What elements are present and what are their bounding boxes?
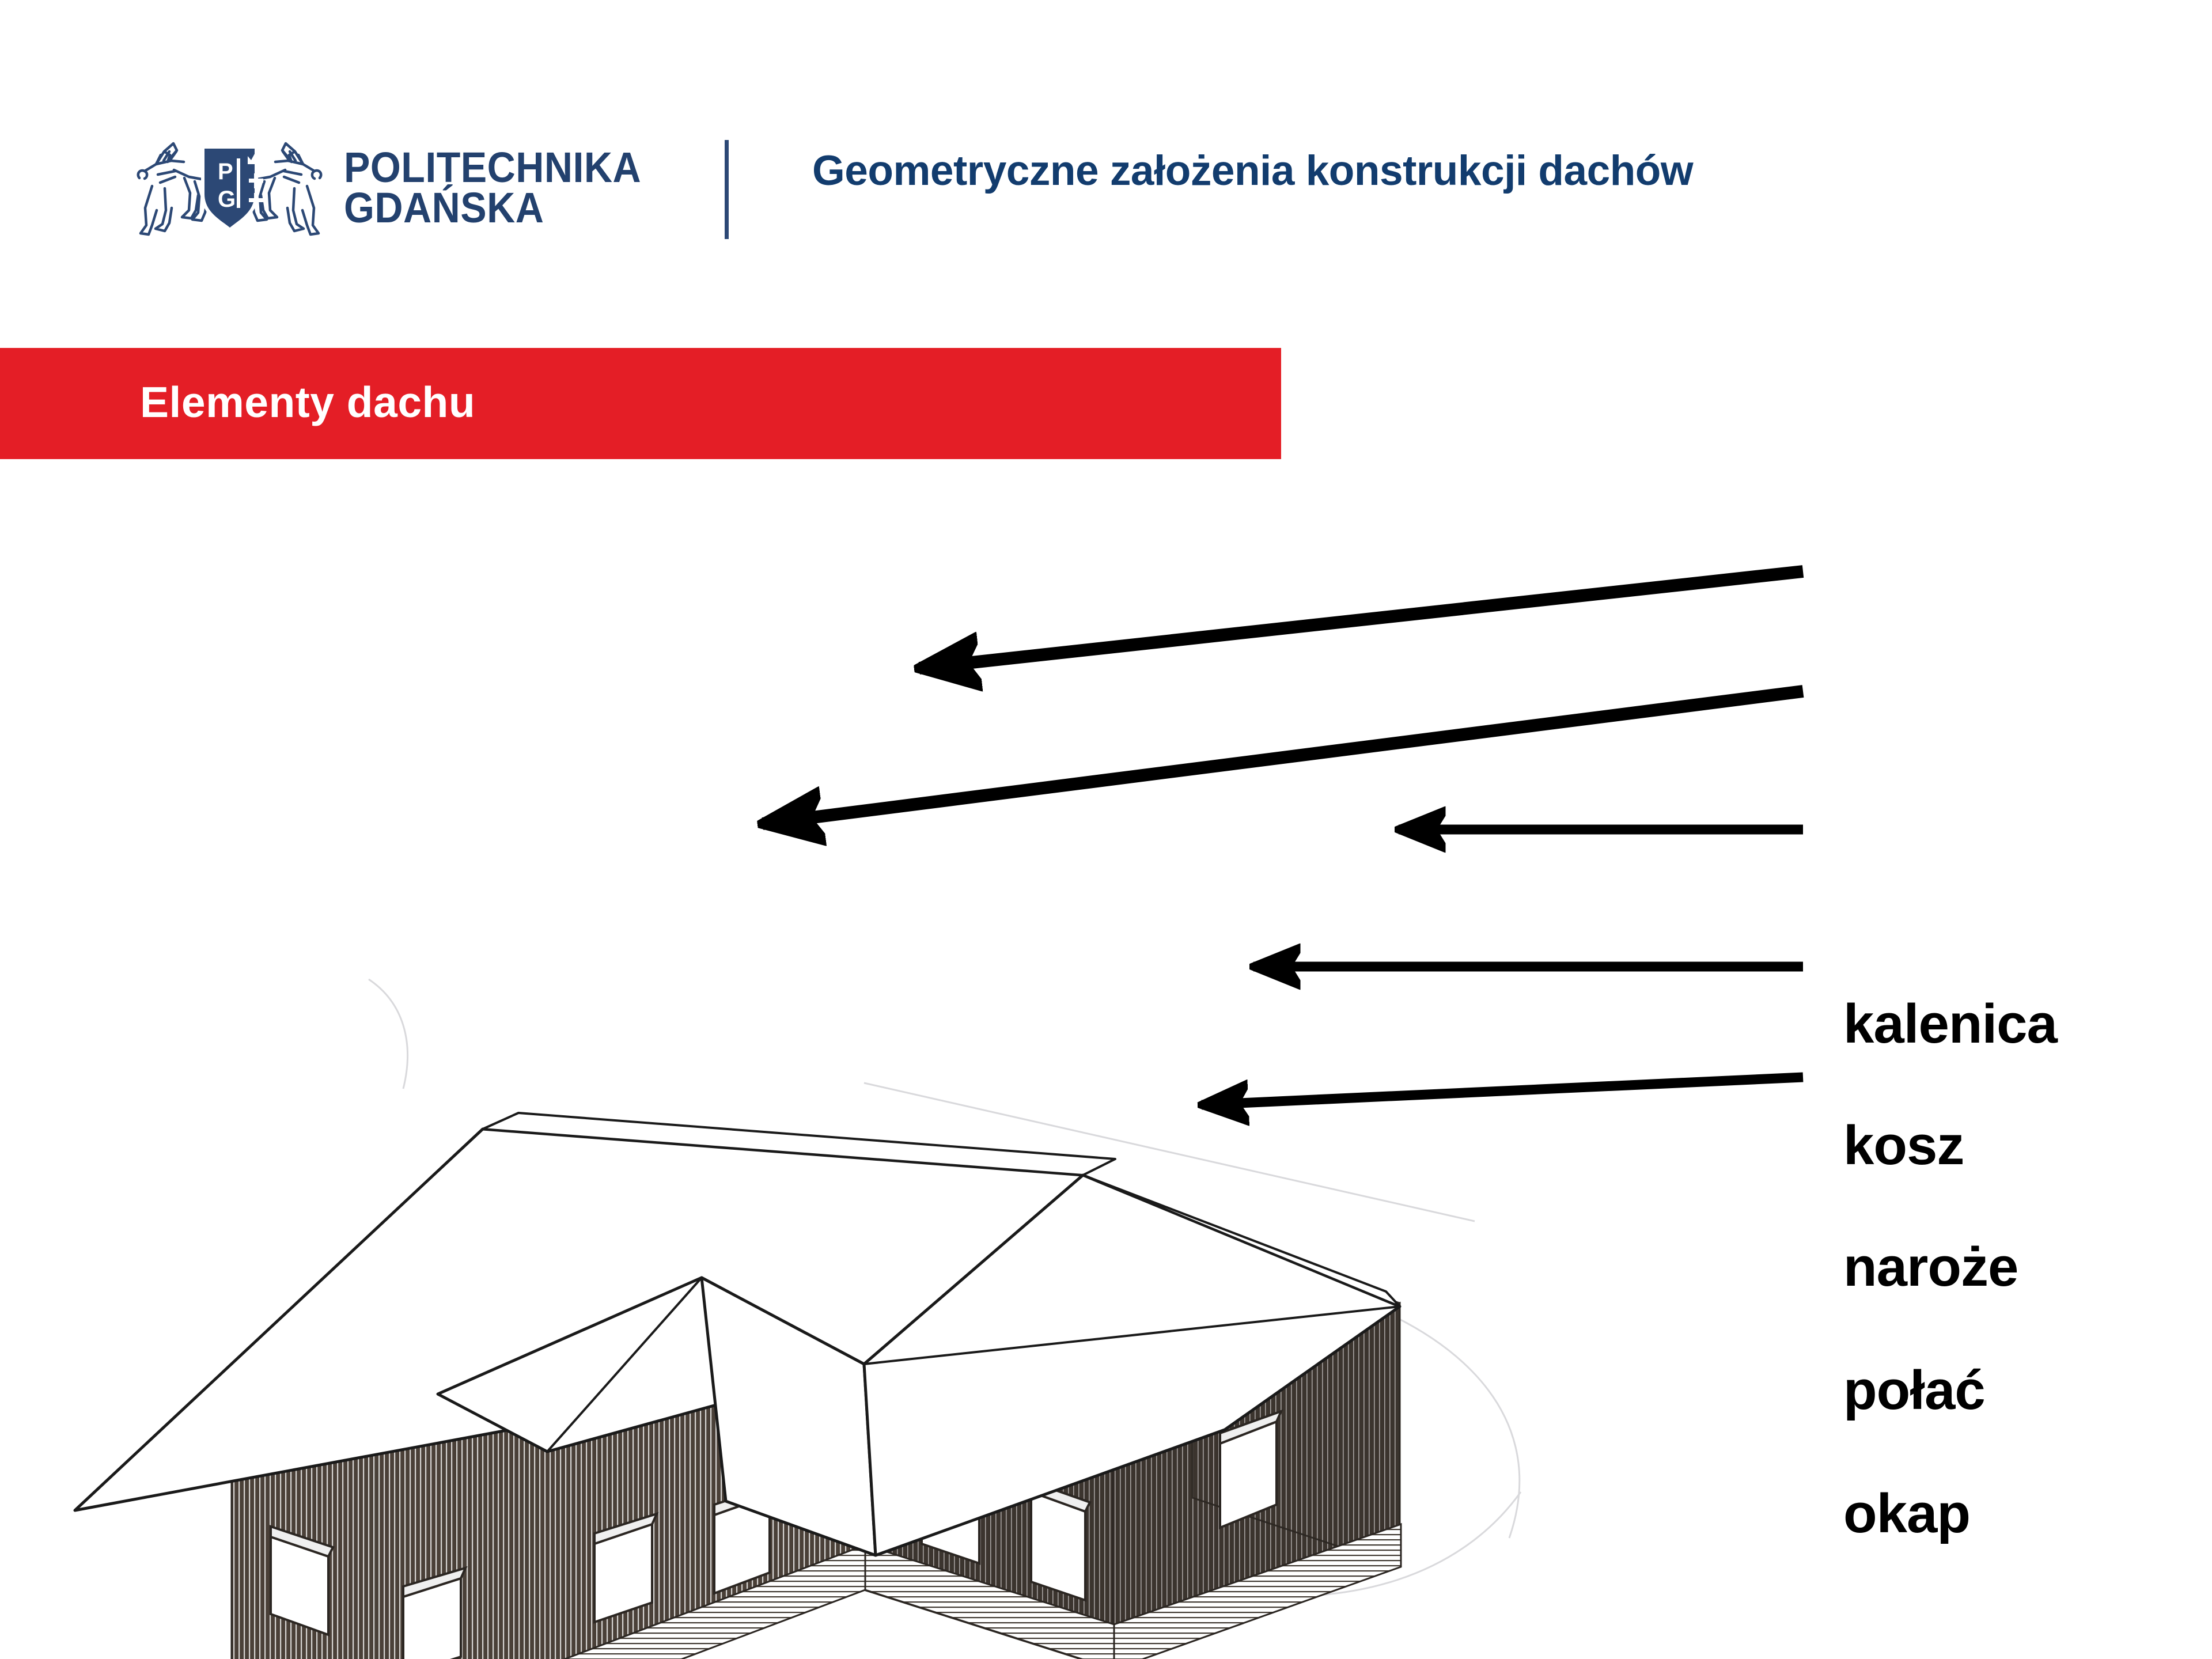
page-title: Geometryczne założenia konstrukcji dachó… — [812, 147, 2137, 195]
wordmark-line-2: GDAŃSKA — [344, 184, 544, 232]
house-illustration — [0, 461, 2212, 1659]
callout-label-kalenica: kalenica — [1843, 997, 2057, 1052]
university-wordmark: POLITECHNIKAGDAŃSKA — [344, 147, 641, 228]
callout-arrows — [763, 571, 1803, 1105]
callout-label-naroze: naroże — [1843, 1240, 2018, 1295]
callout-label-okap: okap — [1843, 1486, 1970, 1541]
callout-label-polac: połać — [1843, 1363, 1985, 1418]
pg-crest-icon: P G — [130, 133, 329, 243]
header-divider — [725, 140, 729, 239]
slide-header: P G POLITECHNIKAGDAŃSKA Geometryczne zał… — [0, 0, 2212, 323]
arrow-kosz — [763, 691, 1803, 824]
crest-letter-g: G — [218, 187, 236, 212]
university-logo: P G POLITECHNIKAGDAŃSKA — [130, 131, 667, 244]
callout-label-kosz: kosz — [1843, 1118, 1964, 1173]
crest-letter-p: P — [218, 159, 233, 184]
roof-diagram: kalenica kosz naroże połać okap — [0, 461, 2212, 1659]
section-banner-label: Elementy dachu — [140, 377, 475, 427]
arrow-kalenica — [919, 571, 1803, 668]
arrow-okap — [1202, 1077, 1803, 1105]
